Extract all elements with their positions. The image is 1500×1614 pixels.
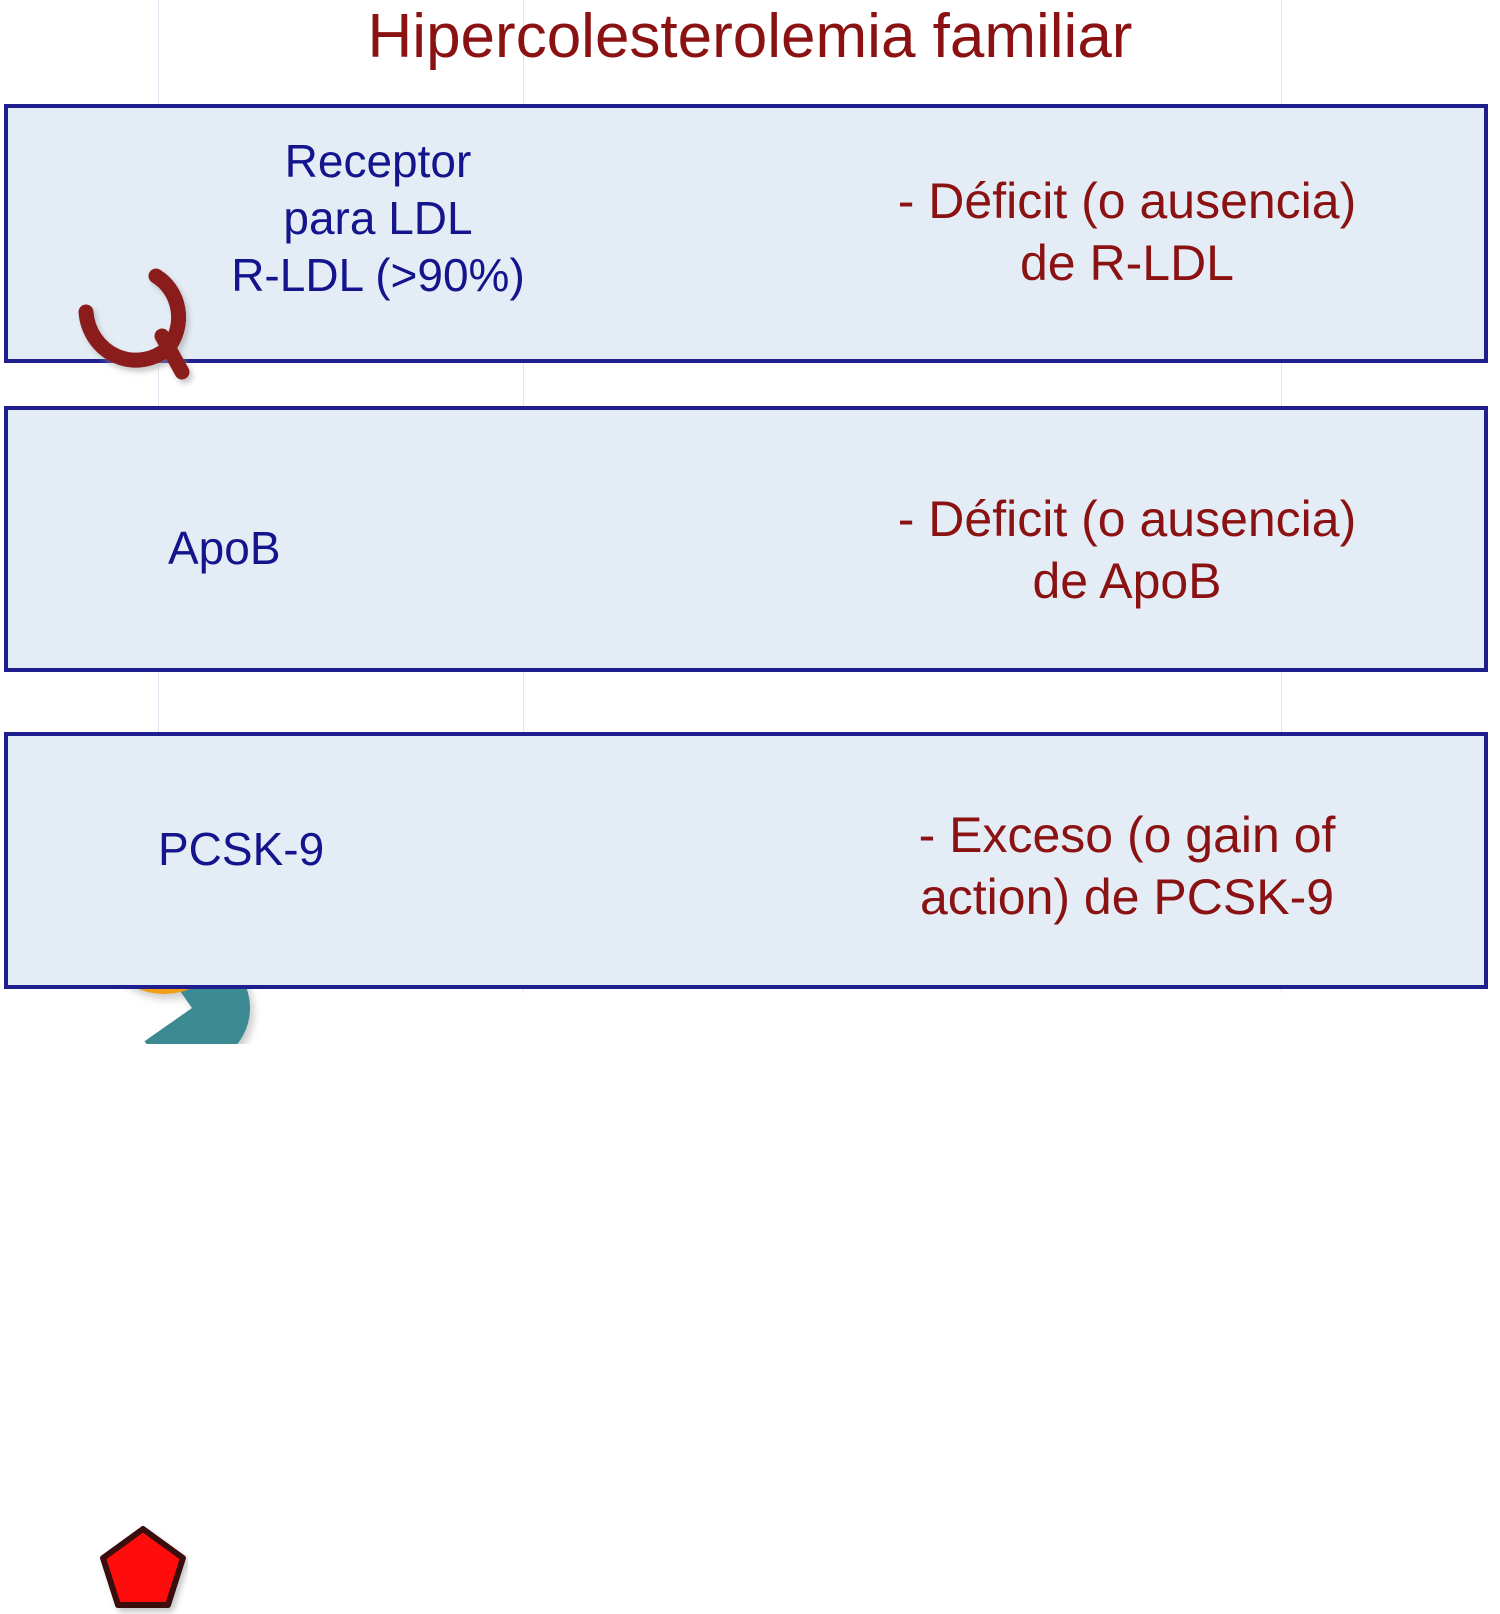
row-description-ldl-receptor: - Déficit (o ausencia) de R-LDL xyxy=(768,170,1486,294)
row-panel-pcsk9: PCSK-9 - Exceso (o gain of action) de PC… xyxy=(4,732,1488,989)
row-description-pcsk9: - Exceso (o gain of action) de PCSK-9 xyxy=(768,804,1486,928)
row-panel-ldl-receptor: Receptor para LDL R-LDL (>90%) - Déficit… xyxy=(4,104,1488,363)
page-title: Hipercolesterolemia familiar xyxy=(0,2,1500,72)
row-panel-apob: ApoB - Déficit (o ausencia) de ApoB xyxy=(4,406,1488,672)
row-label-ldl-receptor: Receptor para LDL R-LDL (>90%) xyxy=(148,133,608,304)
pcsk9-pentagon-icon xyxy=(98,1522,188,1614)
row-description-apob: - Déficit (o ausencia) de ApoB xyxy=(768,488,1486,612)
row-label-pcsk9: PCSK-9 xyxy=(158,821,558,878)
row-label-apob: ApoB xyxy=(168,520,568,577)
